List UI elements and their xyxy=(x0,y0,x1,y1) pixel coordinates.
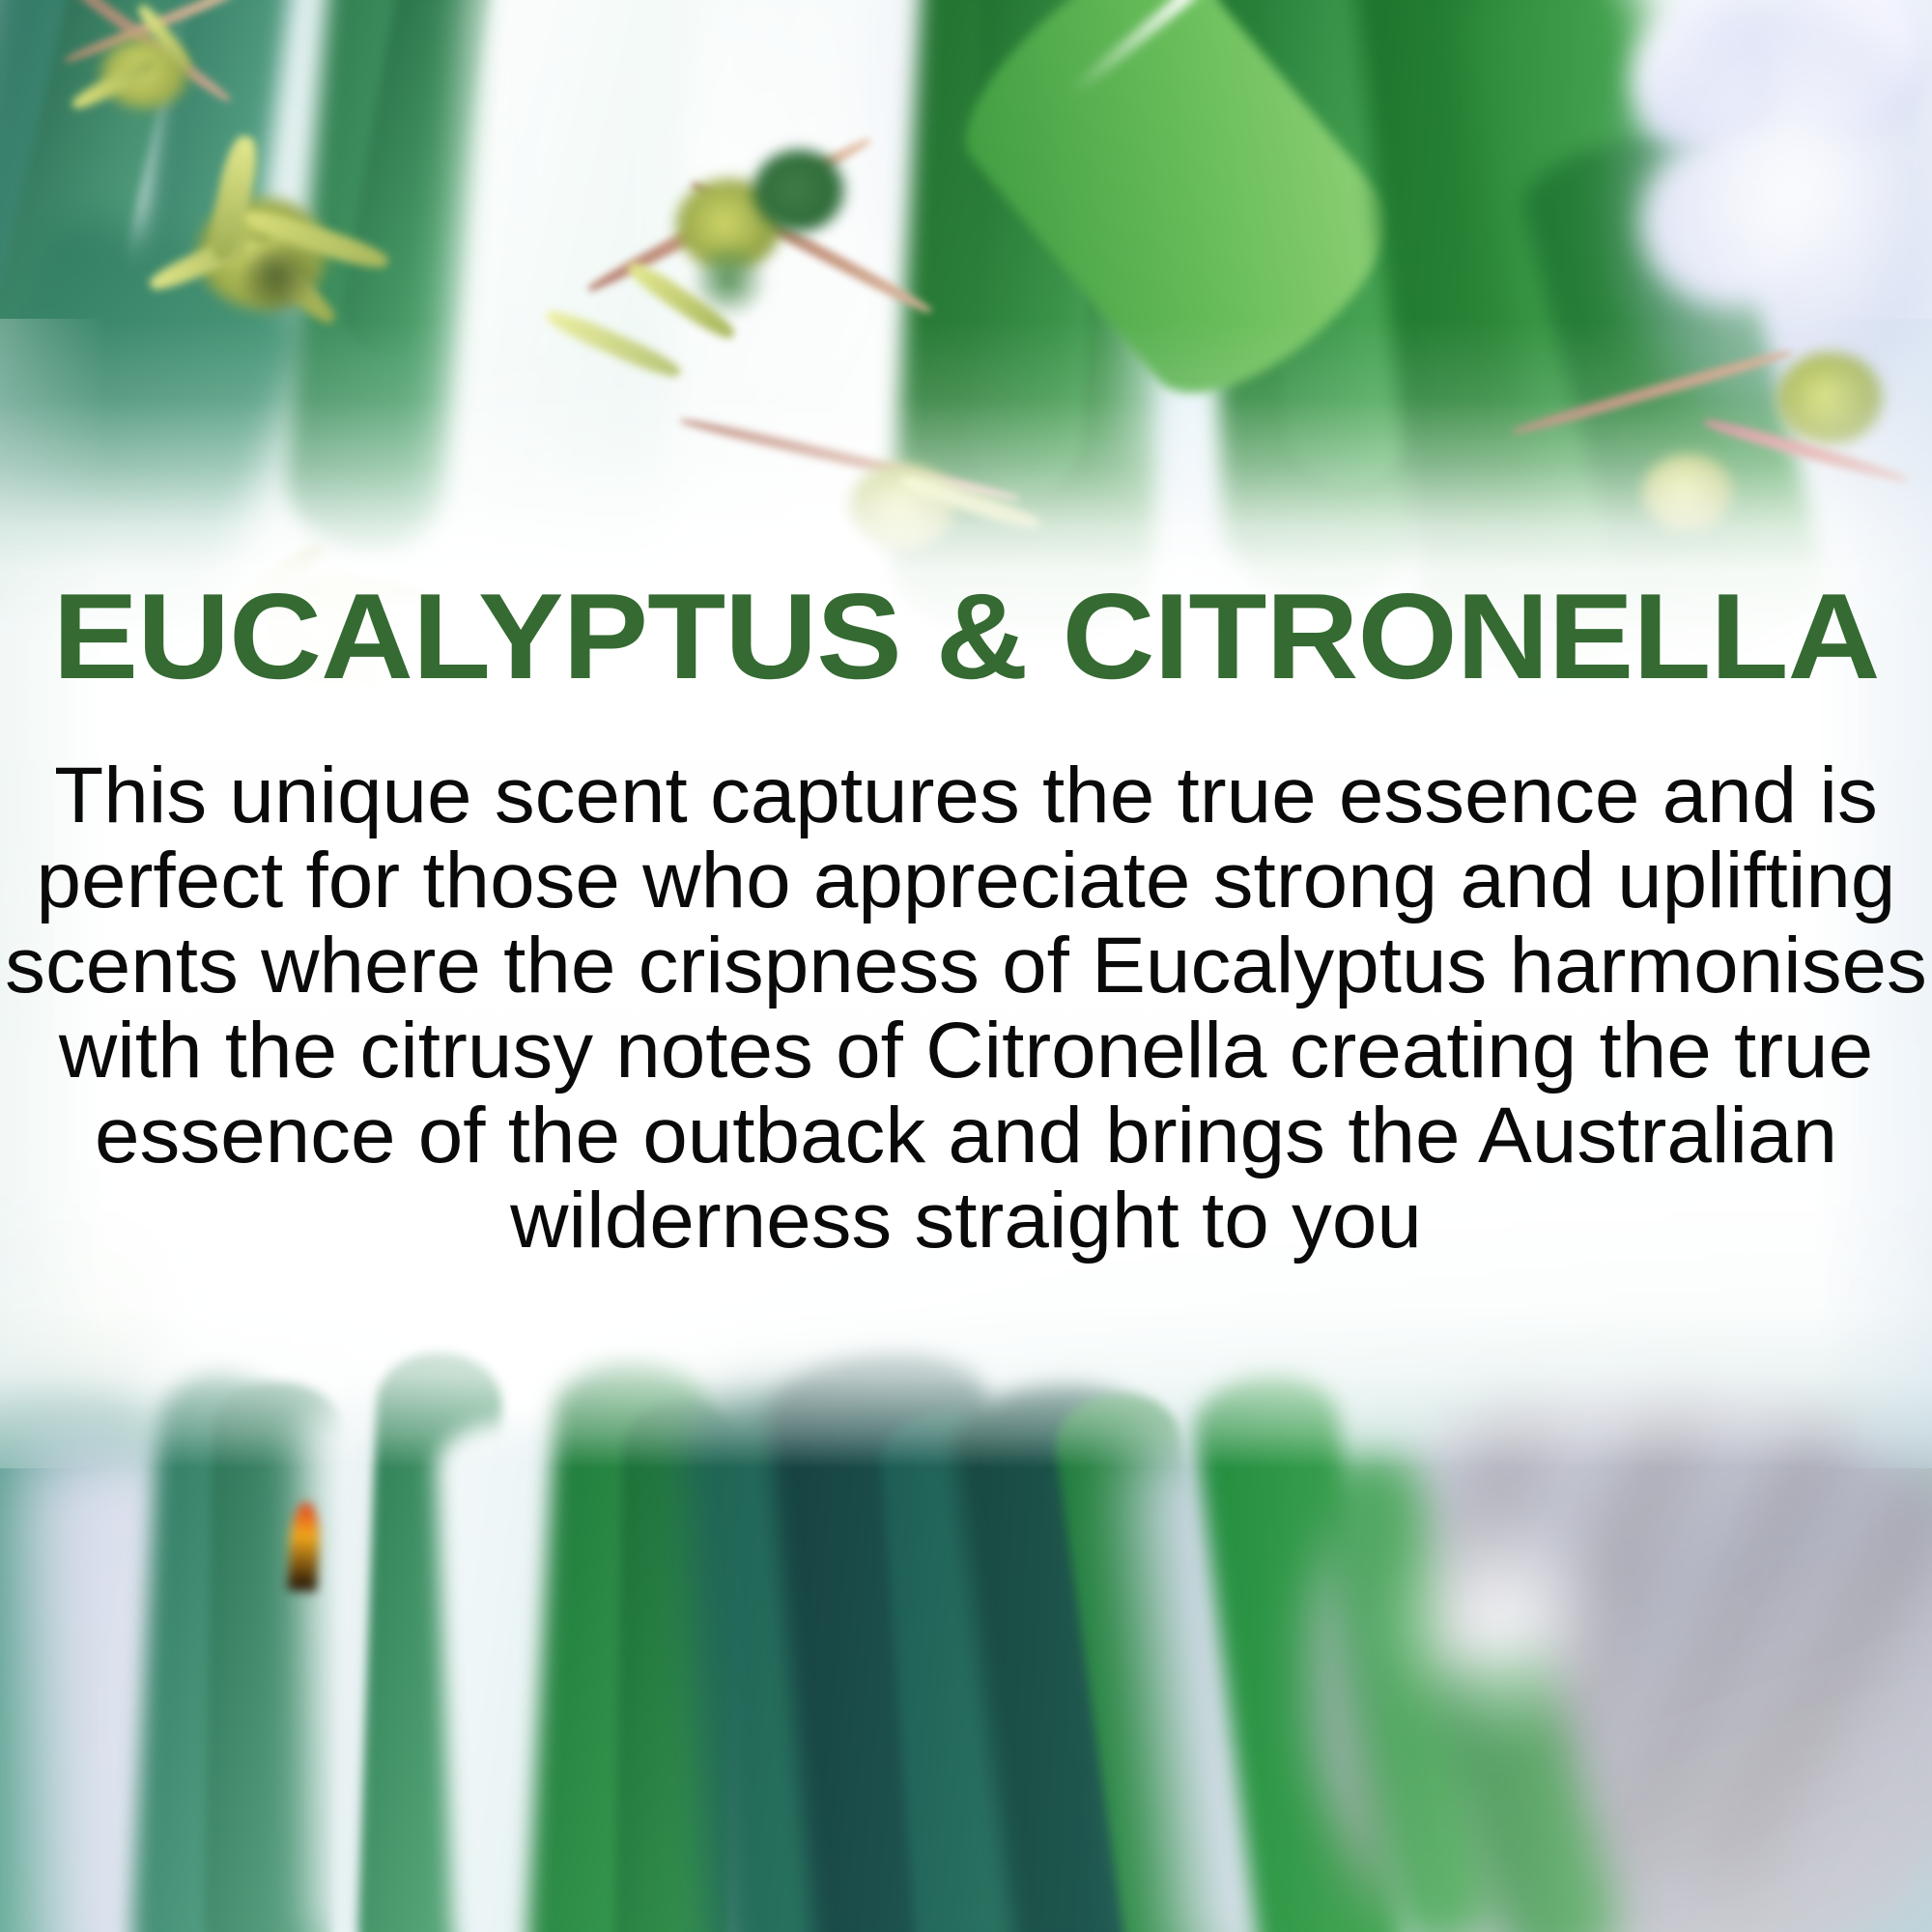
sky-haze xyxy=(1381,1507,1613,1739)
bud-cluster xyxy=(1642,454,1734,531)
card-content: EUCALYPTUS & CITRONELLA This unique scen… xyxy=(0,576,1932,1264)
bud-cluster xyxy=(1777,353,1884,444)
product-scent-card: EUCALYPTUS & CITRONELLA This unique scen… xyxy=(0,0,1932,1932)
sky-haze xyxy=(1623,0,1932,425)
bud-cluster-core xyxy=(241,246,319,314)
page-title: EUCALYPTUS & CITRONELLA xyxy=(0,576,1932,697)
product-description: This unique scent captures the true esse… xyxy=(0,753,1932,1264)
bud-cluster xyxy=(753,150,845,232)
